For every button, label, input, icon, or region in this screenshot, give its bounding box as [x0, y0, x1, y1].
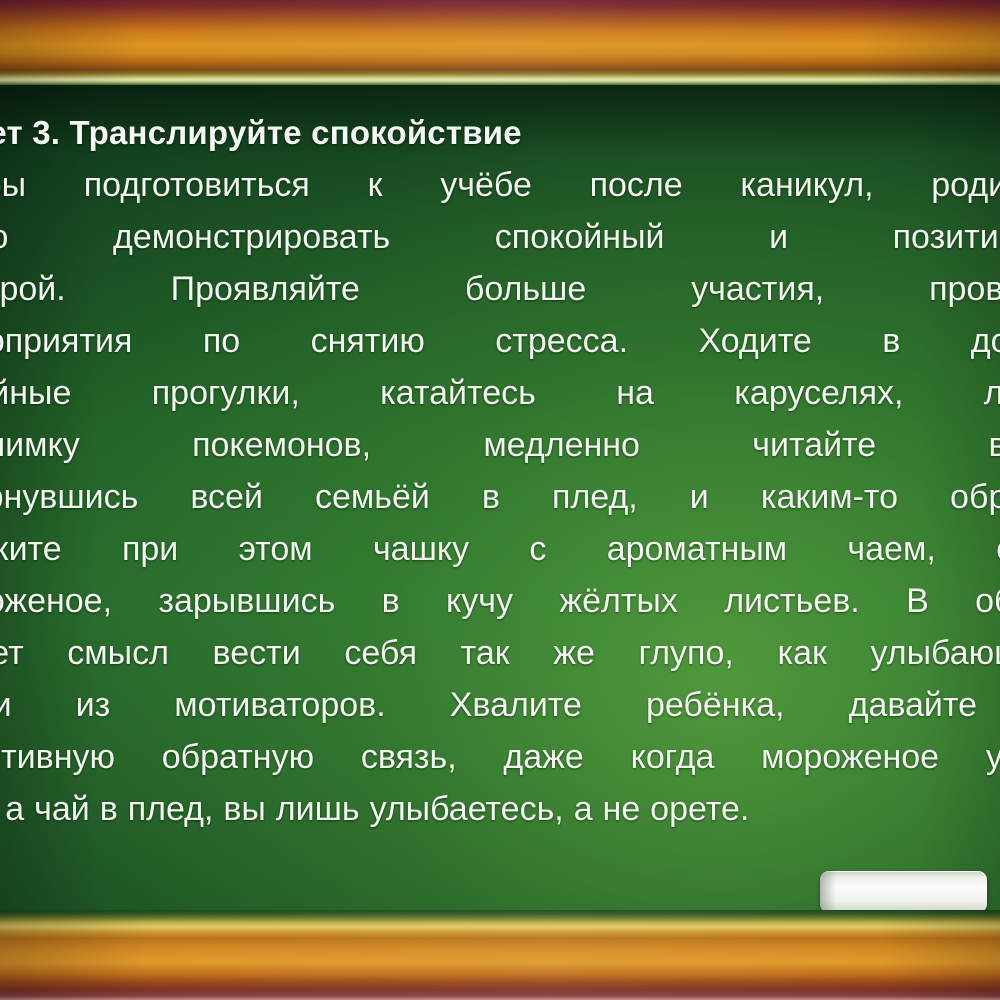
- slide-body-line: астрой. Проявляйте больше участия, прово…: [0, 263, 1000, 315]
- slide-stage: овет 3. Транслируйте спокойствие тобы по…: [0, 0, 1000, 1000]
- slide-body-line: тобы подготовиться к учёбе после каникул…: [0, 159, 1000, 211]
- slide-body-line: вернувшись всей семьёй в плед, и каким-т…: [0, 471, 1000, 523]
- chalkboard-text-layer: овет 3. Транслируйте спокойствие тобы по…: [0, 85, 1000, 913]
- slide-body-line: ороженое, зарывшись в кучу жёлтых листье…: [0, 575, 1000, 627]
- slide-body-justified: тобы подготовиться к учёбе после каникул…: [0, 159, 1000, 783]
- slide-body-line: меет смысл вести себя так же глупо, как …: [0, 627, 1000, 679]
- chalkboard-frame-top: [0, 0, 1000, 88]
- slide-body-line: юди из мотиваторов. Хвалите ребёнка, дав…: [0, 679, 1000, 731]
- slide-body-line: мейные прогулки, катайтесь на каруселях,…: [0, 367, 1000, 419]
- slide-body-line: озитивную обратную связь, даже когда мор…: [0, 731, 1000, 783]
- slide-title: овет 3. Транслируйте спокойствие: [0, 112, 1000, 153]
- slide-body-last-line: ай, а чай в плед, вы лишь улыбаетесь, а …: [0, 783, 1000, 835]
- slide-body-line: ержите при этом чашку с ароматным чаем, …: [0, 523, 1000, 575]
- chalkboard-frame-bottom: [0, 910, 1000, 1000]
- chalk-eraser[interactable]: [820, 871, 987, 913]
- slide-body-line: ероприятия по снятию стресса. Ходите в д…: [0, 315, 1000, 367]
- slide-body-line: обнимку покемонов, медленно читайте вслу: [0, 419, 1000, 471]
- slide-body-text: тобы подготовиться к учёбе после каникул…: [0, 159, 1000, 835]
- slide-body-line: жно демонстрировать спокойный и позитивн…: [0, 211, 1000, 263]
